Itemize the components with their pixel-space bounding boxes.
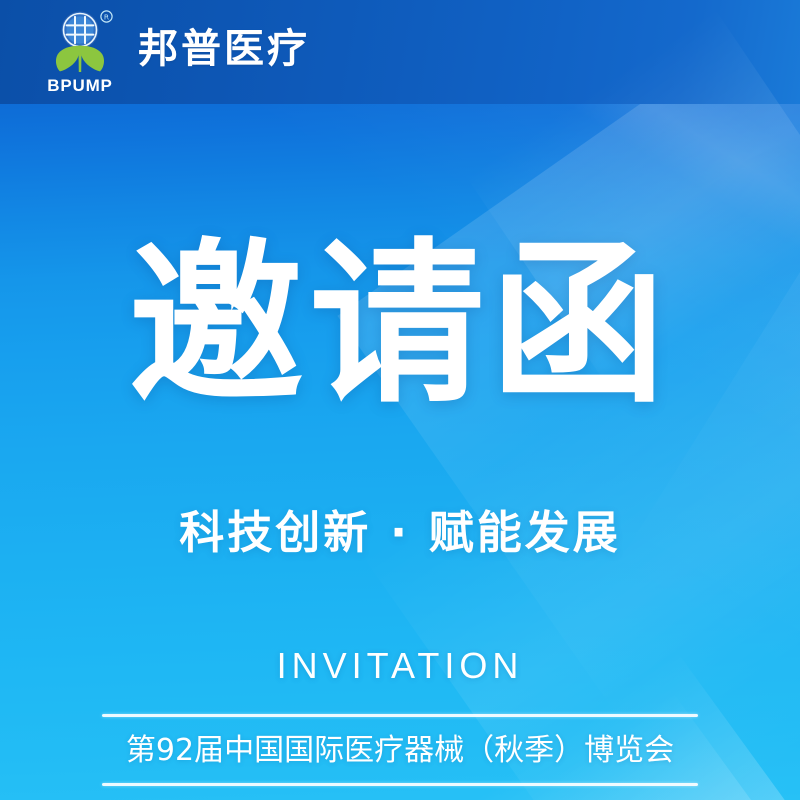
invitation-poster: R BPUMP 邦普医疗 邀请函 科技创新 · 赋能发展 INVITATION (0, 0, 800, 800)
invitation-english-label: INVITATION (0, 648, 800, 684)
event-name: 第92届中国国际医疗器械（秋季）博览会 (102, 717, 698, 783)
subtitle-slogan: 科技创新 · 赋能发展 (0, 510, 800, 555)
company-logo: R BPUMP (42, 9, 118, 95)
registered-trademark-icon: R (101, 11, 112, 22)
logo-emblem-svg: R (42, 9, 118, 77)
poster-content: 邀请函 科技创新 · 赋能发展 INVITATION 第92届中国国际医疗器械（… (0, 0, 800, 800)
brand-name: 邦普医疗 (138, 29, 310, 69)
headline-title: 邀请函 (0, 238, 800, 413)
two-leaves-icon (56, 46, 104, 73)
divider-bottom (102, 783, 698, 786)
event-footer: 第92届中国国际医疗器械（秋季）博览会 (102, 714, 698, 786)
logo-wordmark: BPUMP (42, 77, 118, 94)
circle-grid-emblem-icon (62, 12, 99, 49)
brand-lockup: R BPUMP 邦普医疗 (42, 6, 310, 98)
header-bar: R BPUMP 邦普医疗 (0, 0, 800, 104)
svg-text:R: R (104, 12, 109, 21)
